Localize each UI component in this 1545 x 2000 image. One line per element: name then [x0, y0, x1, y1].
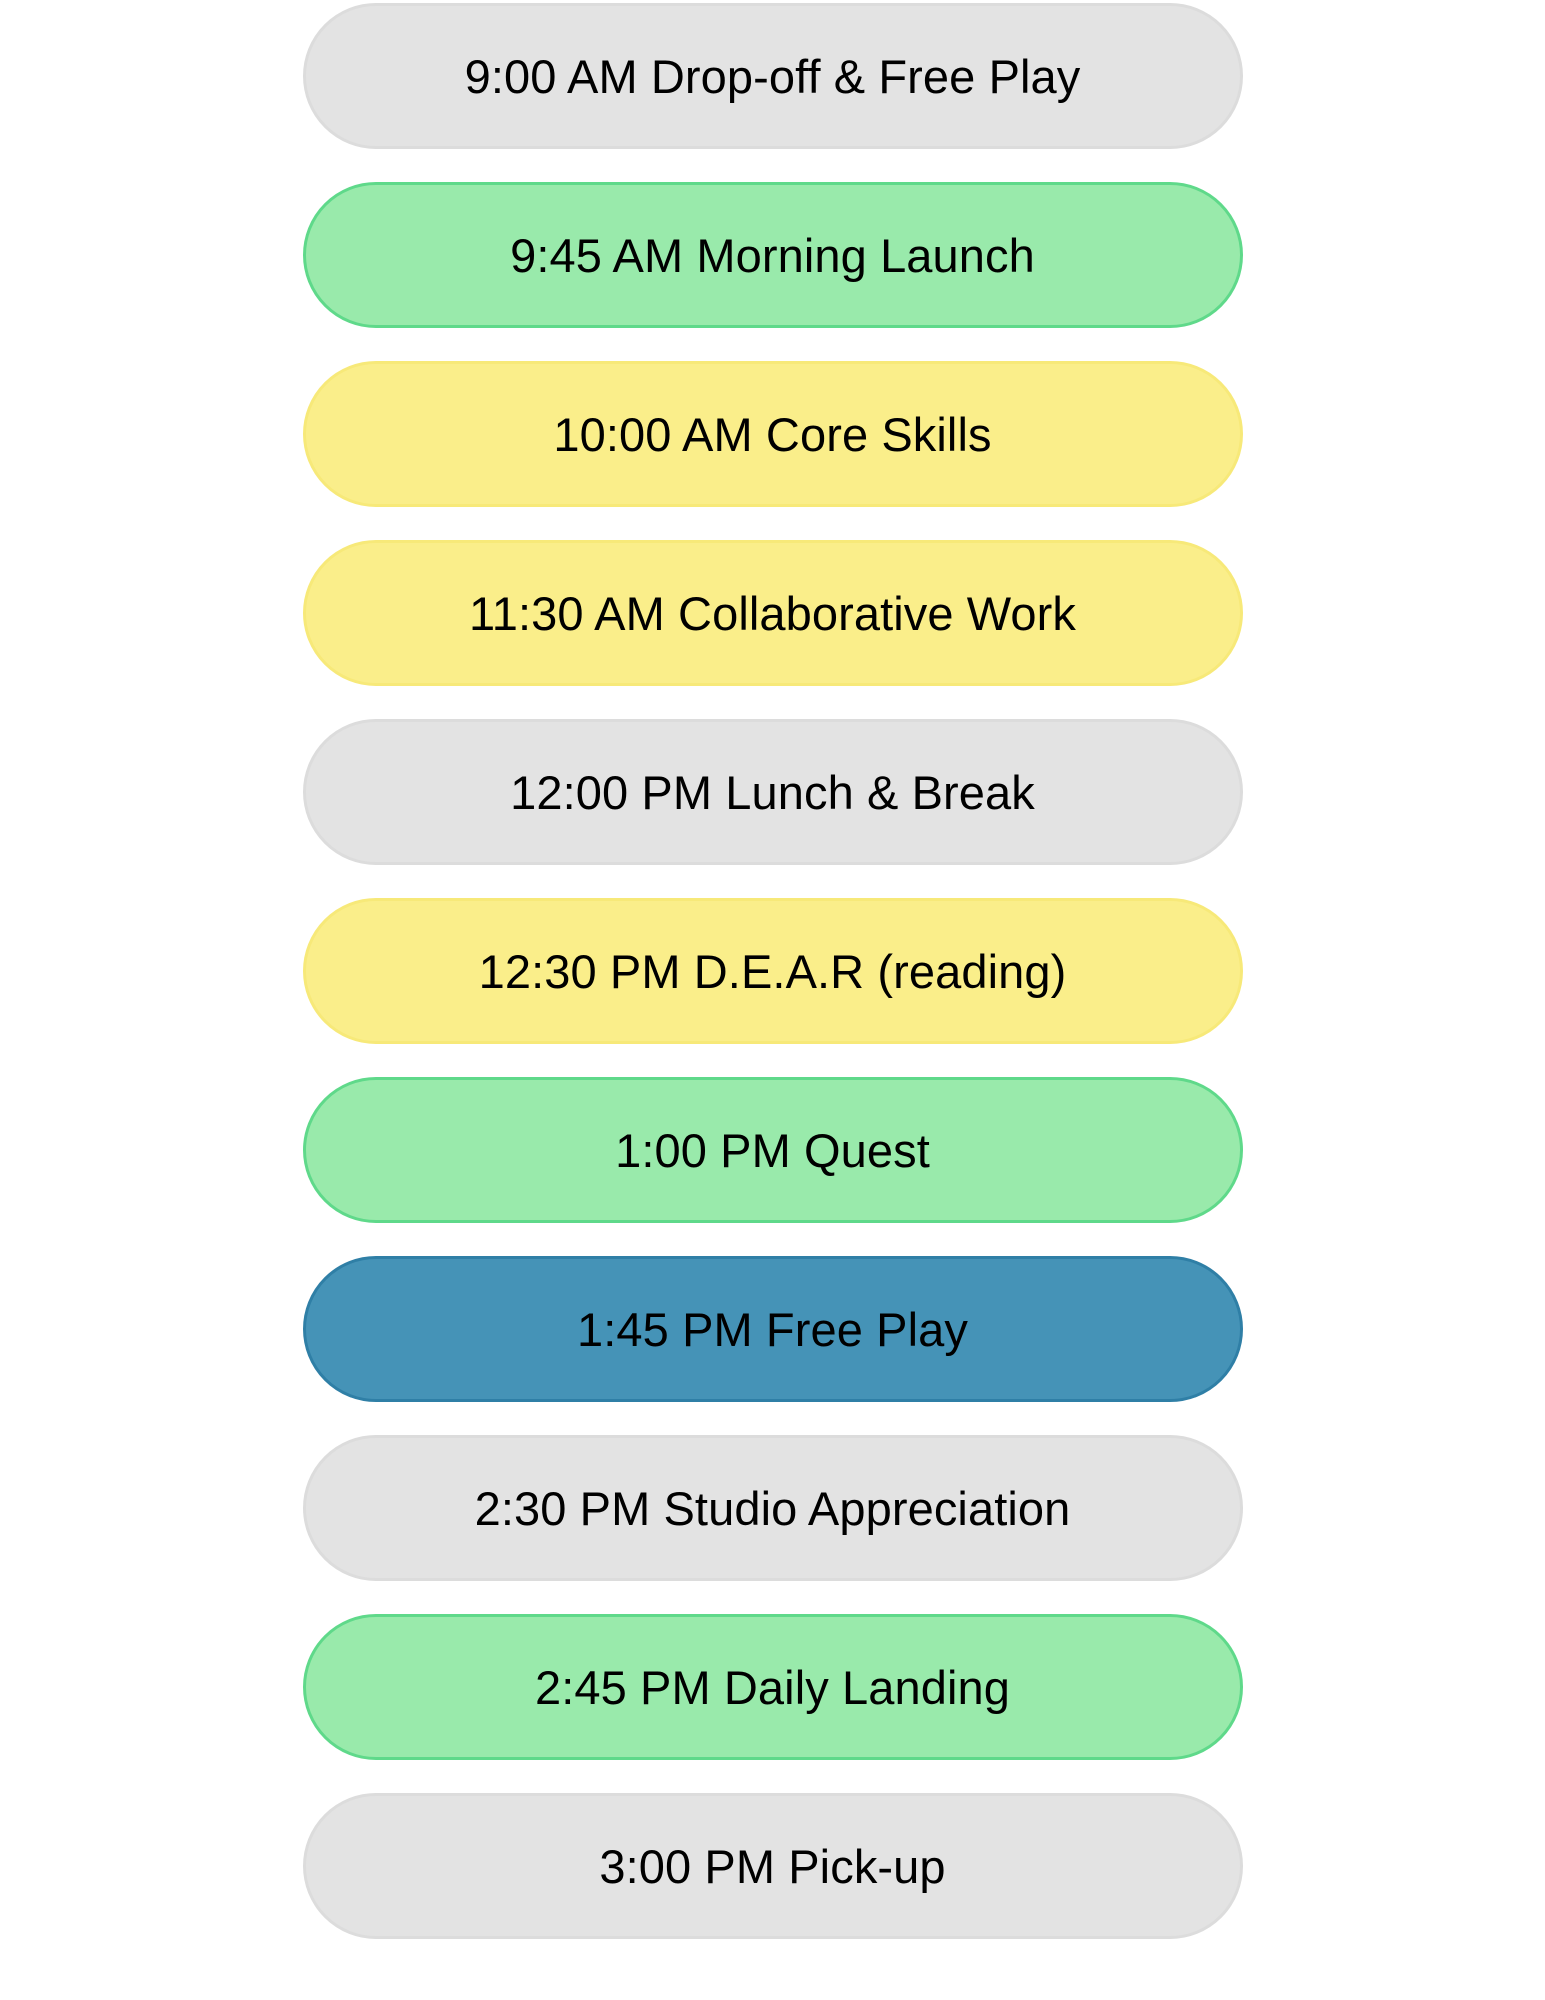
schedule-item-label: 12:30 PM D.E.A.R (reading)	[479, 948, 1067, 995]
schedule-item-label: 1:45 PM Free Play	[577, 1306, 968, 1353]
schedule-item-label: 3:00 PM Pick-up	[599, 1843, 945, 1890]
schedule-item[interactable]: 2:45 PM Daily Landing	[303, 1614, 1243, 1760]
schedule-item-label: 9:45 AM Morning Launch	[510, 232, 1035, 279]
schedule-item[interactable]: 10:00 AM Core Skills	[303, 361, 1243, 507]
schedule-item[interactable]: 2:30 PM Studio Appreciation	[303, 1435, 1243, 1581]
schedule-item[interactable]: 9:45 AM Morning Launch	[303, 182, 1243, 328]
schedule-item-label: 2:30 PM Studio Appreciation	[475, 1485, 1071, 1532]
schedule-item[interactable]: 11:30 AM Collaborative Work	[303, 540, 1243, 686]
schedule-item-label: 12:00 PM Lunch & Break	[510, 769, 1035, 816]
daily-schedule-board: 9:00 AM Drop-off & Free Play9:45 AM Morn…	[0, 0, 1545, 2000]
schedule-item[interactable]: 12:30 PM D.E.A.R (reading)	[303, 898, 1243, 1044]
schedule-item-label: 1:00 PM Quest	[615, 1127, 930, 1174]
schedule-item-label: 2:45 PM Daily Landing	[535, 1664, 1010, 1711]
schedule-item[interactable]: 9:00 AM Drop-off & Free Play	[303, 3, 1243, 149]
schedule-item-label: 9:00 AM Drop-off & Free Play	[465, 53, 1081, 100]
schedule-item[interactable]: 1:00 PM Quest	[303, 1077, 1243, 1223]
schedule-item[interactable]: 3:00 PM Pick-up	[303, 1793, 1243, 1939]
schedule-item[interactable]: 12:00 PM Lunch & Break	[303, 719, 1243, 865]
schedule-item[interactable]: 1:45 PM Free Play	[303, 1256, 1243, 1402]
schedule-item-label: 11:30 AM Collaborative Work	[469, 590, 1076, 637]
schedule-item-label: 10:00 AM Core Skills	[553, 411, 991, 458]
